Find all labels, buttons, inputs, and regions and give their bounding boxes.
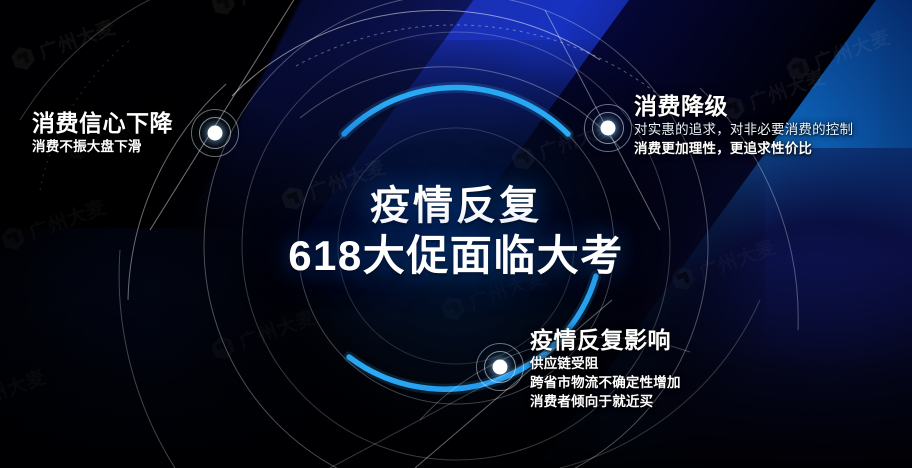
node-dot-icon	[208, 126, 223, 141]
node-dot-icon	[493, 360, 508, 375]
callout-heading: 疫情反复影响	[530, 327, 681, 354]
callout-line: 对实惠的追求，对非必要消费的控制	[634, 120, 853, 139]
callout-pandemic-impact: 疫情反复影响 供应链受阻 跨省市物流不确定性增加 消费者倾向于就近买	[530, 327, 681, 412]
callout-heading: 消费降级	[634, 93, 853, 120]
orbit-rings	[0, 0, 912, 468]
callout-line: 跨省市物流不确定性增加	[530, 373, 681, 392]
decor-arc-5	[20, 0, 170, 120]
node-dot-icon	[601, 121, 616, 136]
callout-line: 供应链受阻	[530, 354, 681, 373]
slide-canvas: 广州大麦 广州大麦 广州大麦 广州大麦 广州大麦 广州大麦 广州大麦 广州大麦 …	[0, 0, 912, 468]
callout-line: 消费不振大盘下滑	[32, 137, 173, 156]
callout-consumer-confidence: 消费信心下降 消费不振大盘下滑	[32, 110, 173, 156]
callout-line: 消费更加理性，更追求性价比	[634, 139, 853, 158]
callout-line: 消费者倾向于就近买	[530, 392, 681, 411]
callout-heading: 消费信心下降	[32, 110, 173, 137]
decor-arc-6	[119, 250, 175, 468]
callout-consumption-downgrade: 消费降级 对实惠的追求，对非必要消费的控制 消费更加理性，更追求性价比	[634, 93, 853, 158]
